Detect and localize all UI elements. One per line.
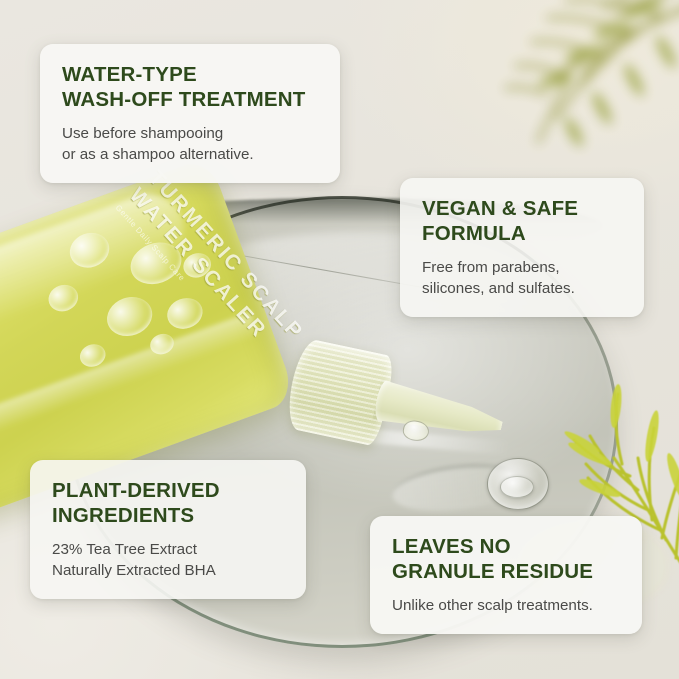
body-line-2: Naturally Extracted BHA xyxy=(52,562,216,579)
feature-card-body: 23% Tea Tree Extract Naturally Extracted… xyxy=(52,539,284,581)
body-line-1: Use before shampooing xyxy=(62,125,223,142)
body-line-2: or as a shampoo alternative. xyxy=(62,146,254,163)
body-line-1: 23% Tea Tree Extract xyxy=(52,541,197,558)
heading-line-2: FORMULA xyxy=(422,222,526,245)
feature-card-heading: WATER-TYPE WASH-OFF TREATMENT xyxy=(62,62,318,112)
nozzle-tip xyxy=(372,376,507,448)
heading-line-2: GRANULE RESIDUE xyxy=(392,560,593,583)
heading-line-1: WATER-TYPE xyxy=(62,63,197,86)
feature-card-plant-derived: PLANT-DERIVED INGREDIENTS 23% Tea Tree E… xyxy=(30,460,306,599)
feature-card-body: Free from parabens, silicones, and sulfa… xyxy=(422,257,622,299)
feature-card-heading: VEGAN & SAFE FORMULA xyxy=(422,196,622,246)
feature-card-body: Unlike other scalp treatments. xyxy=(392,595,620,616)
tea-tree-branch-blurred-icon xyxy=(398,0,679,174)
heading-line-1: VEGAN & SAFE xyxy=(422,197,578,220)
body-line-1: Unlike other scalp treatments. xyxy=(392,597,593,614)
feature-card-body: Use before shampooing or as a shampoo al… xyxy=(62,123,318,165)
body-line-1: Free from parabens, xyxy=(422,259,560,276)
feature-card-water-type: WATER-TYPE WASH-OFF TREATMENT Use before… xyxy=(40,44,340,183)
feature-card-heading: LEAVES NO GRANULE RESIDUE xyxy=(392,534,620,584)
heading-line-2: WASH-OFF TREATMENT xyxy=(62,88,306,111)
body-line-2: silicones, and sulfates. xyxy=(422,280,575,297)
feature-card-vegan-safe: VEGAN & SAFE FORMULA Free from parabens,… xyxy=(400,178,644,317)
product-infographic: TURMERIC SCALP WATER SCALER Gentle Daily… xyxy=(0,0,679,679)
heading-line-1: LEAVES NO xyxy=(392,535,511,558)
heading-line-1: PLANT-DERIVED xyxy=(52,479,220,502)
heading-line-2: INGREDIENTS xyxy=(52,504,194,527)
gel-droplet-inner xyxy=(500,476,534,498)
feature-card-no-residue: LEAVES NO GRANULE RESIDUE Unlike other s… xyxy=(370,516,642,634)
feature-card-heading: PLANT-DERIVED INGREDIENTS xyxy=(52,478,284,528)
bottle-label-line1: TURMERIC SCALP xyxy=(143,166,303,339)
